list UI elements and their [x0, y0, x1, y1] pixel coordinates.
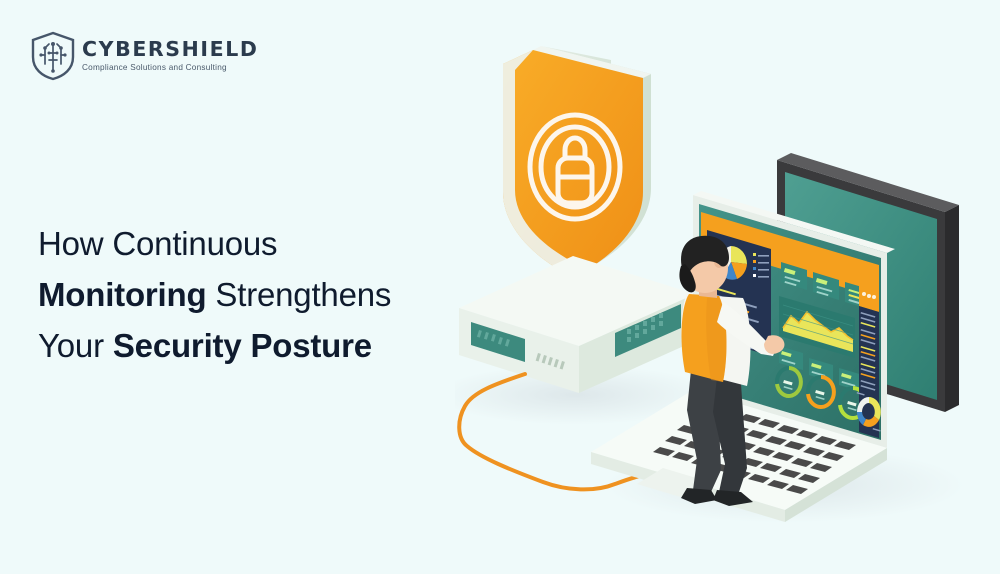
hero-illustration — [455, 40, 1000, 560]
page-title: How Continuous Monitoring Strengthens Yo… — [38, 218, 508, 371]
headline-emphasis-security-posture: Security Posture — [113, 327, 372, 364]
shield — [503, 46, 651, 277]
shield-circuit-icon — [30, 31, 76, 81]
headline-emphasis-monitoring: Monitoring — [38, 276, 206, 313]
banner-root: CYBERSHIELD Compliance Solutions and Con… — [0, 0, 1000, 574]
headline-line-2-rest: Strengthens — [206, 276, 391, 313]
monitor-bezel-side — [945, 205, 959, 412]
headline-line-1: How Continuous — [38, 225, 277, 262]
brand-logo-text: CYBERSHIELD Compliance Solutions and Con… — [82, 39, 259, 72]
brand-logo[interactable]: CYBERSHIELD Compliance Solutions and Con… — [30, 28, 260, 84]
brand-name: CYBERSHIELD — [82, 39, 259, 61]
headline-line-3-start: Your — [38, 327, 113, 364]
right-log-panel — [857, 283, 881, 438]
brand-tagline: Compliance Solutions and Consulting — [82, 63, 259, 73]
